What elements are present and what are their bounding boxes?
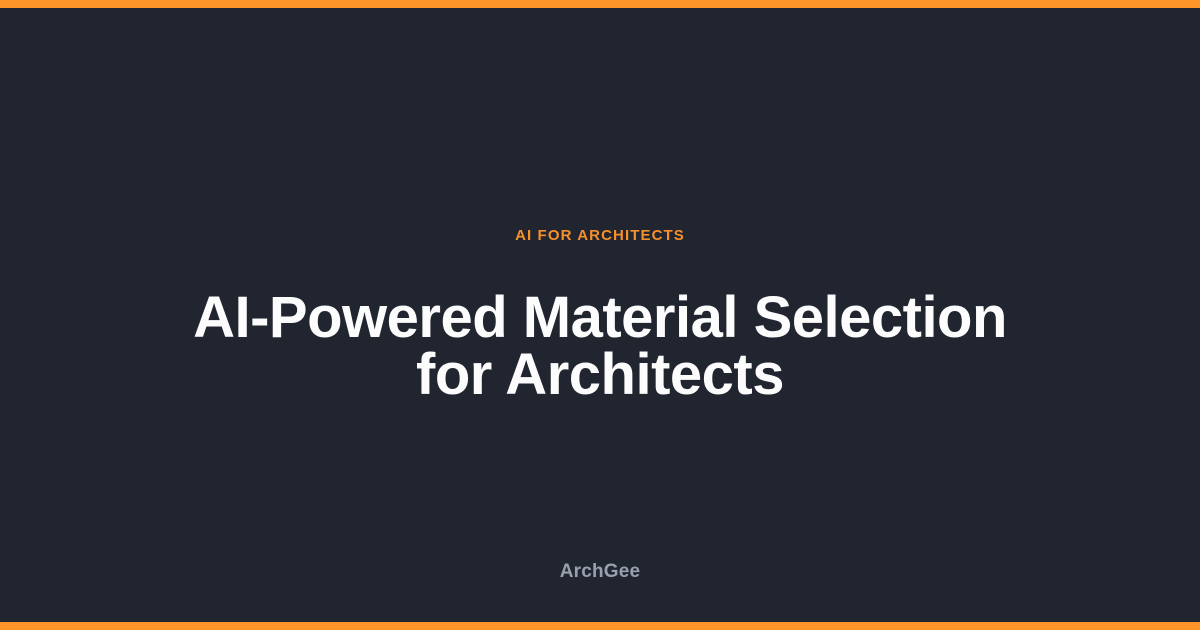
bottom-accent-bar bbox=[0, 622, 1200, 630]
eyebrow-label: AI FOR ARCHITECTS bbox=[515, 227, 685, 245]
top-accent-bar bbox=[0, 0, 1200, 8]
slide-footer: ArchGee bbox=[0, 522, 1200, 622]
brand-name: ArchGee bbox=[560, 561, 641, 583]
title-slide: AI FOR ARCHITECTS AI-Powered Material Se… bbox=[0, 0, 1200, 630]
page-title: AI-Powered Material Selection for Archit… bbox=[170, 289, 1030, 403]
